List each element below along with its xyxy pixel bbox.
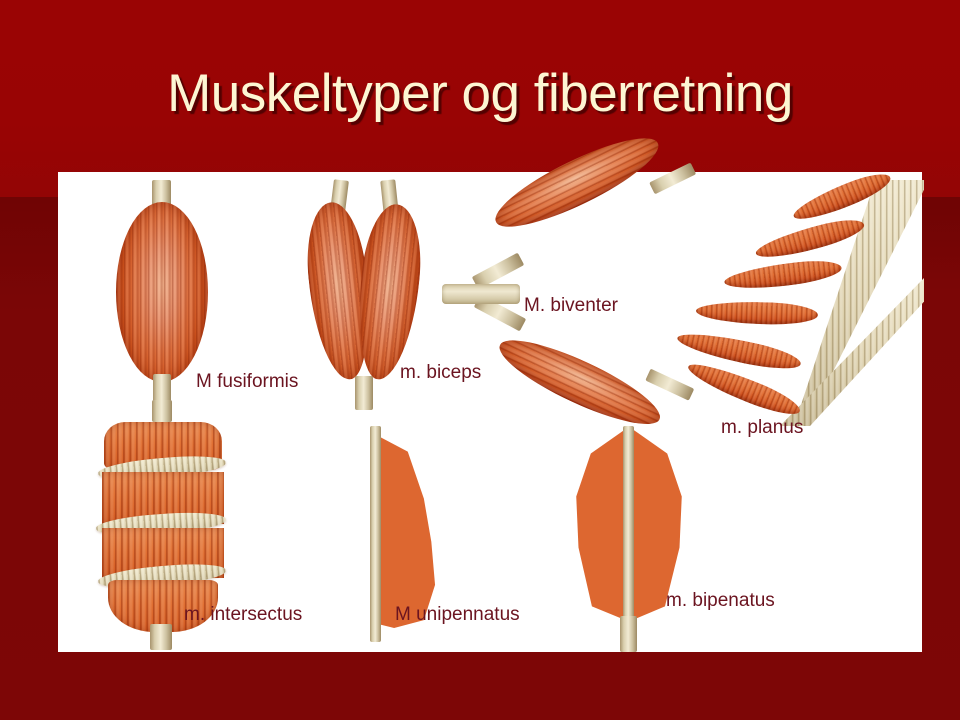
tendon-intersectus-proximal xyxy=(152,400,172,422)
label-m-planus: m. planus xyxy=(721,417,803,439)
muscle-slip-2 xyxy=(753,214,867,264)
muscle-fibres-unipennate xyxy=(378,432,440,628)
label-m-unipennatus: M unipennatus xyxy=(395,604,520,626)
label-m-biceps: m. biceps xyxy=(400,362,481,384)
label-m-intersectus: m. intersectus xyxy=(184,604,302,626)
slide-background-left-strip xyxy=(0,197,58,720)
label-m-fusiformis: M fusiformis xyxy=(196,371,298,393)
figure-multipennate-fan-muscle xyxy=(678,182,922,420)
diagram-panel: M fusiformis m. biceps M. biventer m. pl… xyxy=(58,172,922,652)
slide: Muskeltyper og fiberretning xyxy=(0,0,960,720)
label-m-bipenatus: m. bipenatus xyxy=(666,590,775,612)
label-m-biventer: M. biventer xyxy=(524,295,618,317)
slide-title: Muskeltyper og fiberretning xyxy=(0,62,960,126)
retinaculum-loop xyxy=(442,284,520,304)
muscle-slip-4 xyxy=(696,300,819,326)
tendon-unipennate-central xyxy=(370,426,381,642)
tendon-intersectus-distal xyxy=(150,624,172,650)
muscle-belly-fusiform xyxy=(116,202,208,382)
muscle-fibres-bipennate-left xyxy=(574,426,630,622)
tendon-distal-common xyxy=(355,376,373,410)
muscle-slip-3 xyxy=(723,257,843,293)
figure-bipennate-muscle xyxy=(560,408,696,656)
tendon-bipennate-central xyxy=(623,426,634,624)
tendon-bipennate-distal xyxy=(620,616,637,652)
